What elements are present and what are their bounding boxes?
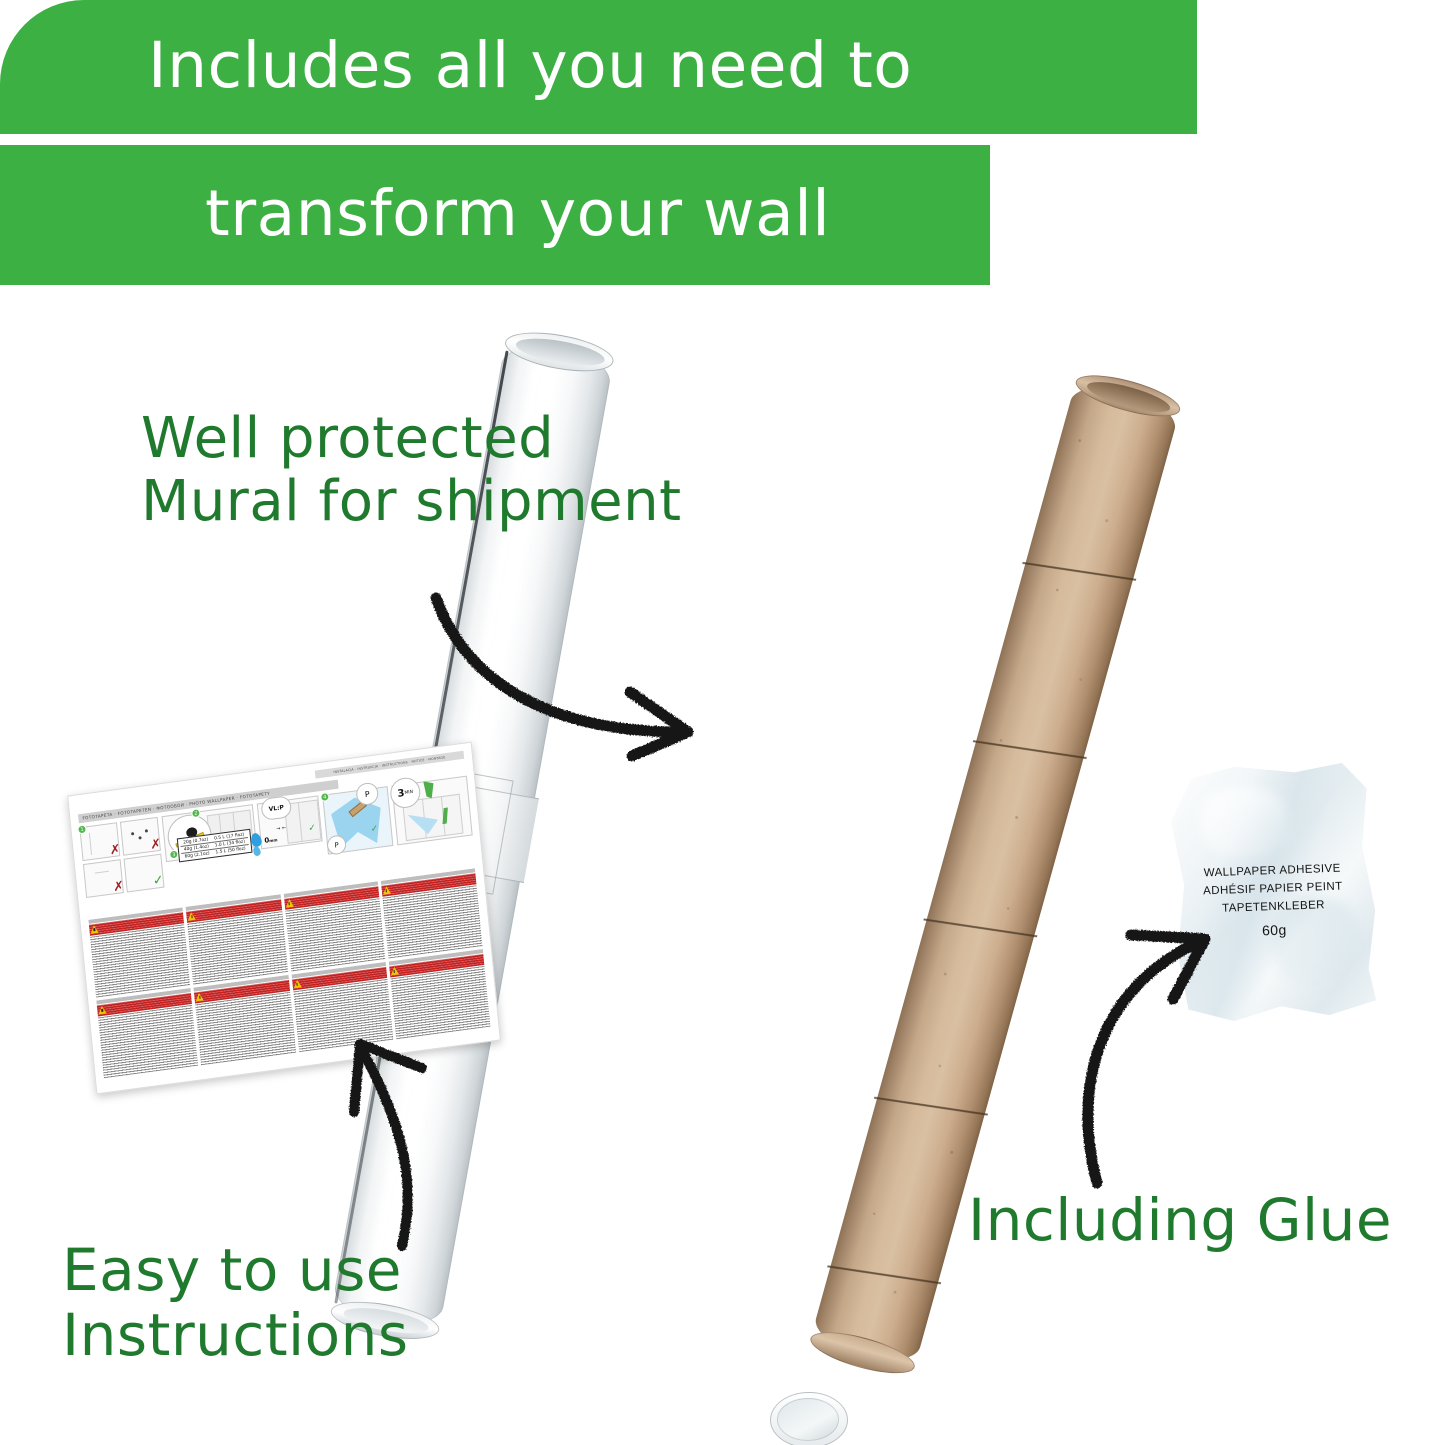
dirt-spot [138, 836, 141, 839]
language-block [194, 975, 296, 1065]
check-mark: ✓ [152, 874, 164, 888]
step-1-row-bottom: ✗ ✓ [83, 854, 165, 898]
warning-triangle-icon [187, 912, 196, 921]
wall-line [89, 833, 92, 855]
product-feature-image: Includes all you need to transform your … [0, 0, 1445, 1445]
language-block [283, 881, 385, 971]
step-1-group: 1 ✗ ✗ ✗ [79, 817, 166, 915]
check-mark: ✓ [308, 824, 316, 834]
paste-label-bottom: P [334, 841, 339, 850]
warning-triangle-icon [195, 992, 204, 1001]
dirt-spot [145, 829, 148, 832]
banner-headline-bottom: transform your wall [0, 145, 990, 285]
step-1-panel-b: ✗ [120, 817, 161, 856]
warning-triangle-icon [98, 1005, 107, 1014]
language-block [381, 868, 483, 958]
step-1-panel-d: ✓ [124, 854, 165, 893]
cross-mark: ✗ [109, 843, 120, 857]
block-body-text [98, 1005, 198, 1078]
cross-mark: ✗ [150, 838, 161, 852]
pouch-highlight-top [1200, 786, 1289, 858]
timer-unit: MIN [404, 789, 413, 795]
block-body-text [195, 992, 295, 1065]
banner-headline-bottom-text: transform your wall [205, 182, 830, 245]
block-body-text [285, 898, 385, 971]
arrow-to-mural-icon [430, 580, 760, 780]
check-mark: ✓ [370, 825, 378, 835]
warning-triangle-icon [293, 979, 302, 988]
language-block [186, 894, 288, 984]
end-cap-inner-disc [777, 1398, 839, 1441]
step-3-group: → ← ✓ VL:P 0mm [257, 795, 327, 891]
dirt-spot [131, 832, 134, 835]
cross-mark: ✗ [113, 880, 124, 894]
block-body-text [382, 885, 482, 958]
warning-triangle-icon [90, 925, 99, 934]
vlies-label: VL:P [268, 804, 284, 813]
butt-joint-arrows: → ← [276, 825, 286, 832]
arrow-to-glue-icon [1055, 895, 1255, 1195]
zero-unit: mm [269, 837, 278, 843]
paste-label-top: P [364, 789, 370, 799]
wall-line [95, 871, 109, 874]
callout-including-glue: Including Glue [968, 1188, 1392, 1253]
language-block [96, 988, 198, 1078]
warning-triangle-icon [390, 966, 399, 975]
block-body-text [90, 924, 190, 997]
step-1-panel-c: ✗ [83, 859, 124, 898]
step-4-group: 4 ✓ P P [322, 786, 396, 882]
callout-easy-to-use-instructions: Easy to use Instructions [62, 1238, 409, 1368]
block-body-text [187, 911, 287, 984]
warning-triangle-icon [285, 899, 294, 908]
tube-end-cap [770, 1392, 848, 1445]
banner-headline-top-text: Includes all you need to [148, 34, 912, 97]
language-block [88, 907, 190, 997]
callout-well-protected-mural: Well protected Mural for shipment [141, 408, 682, 533]
arrow-to-instructions-icon [318, 1020, 488, 1250]
step-5-group: 3MIN [392, 776, 476, 874]
banner-headline-top: Includes all you need to [0, 0, 1197, 134]
warning-triangle-icon [382, 886, 391, 895]
